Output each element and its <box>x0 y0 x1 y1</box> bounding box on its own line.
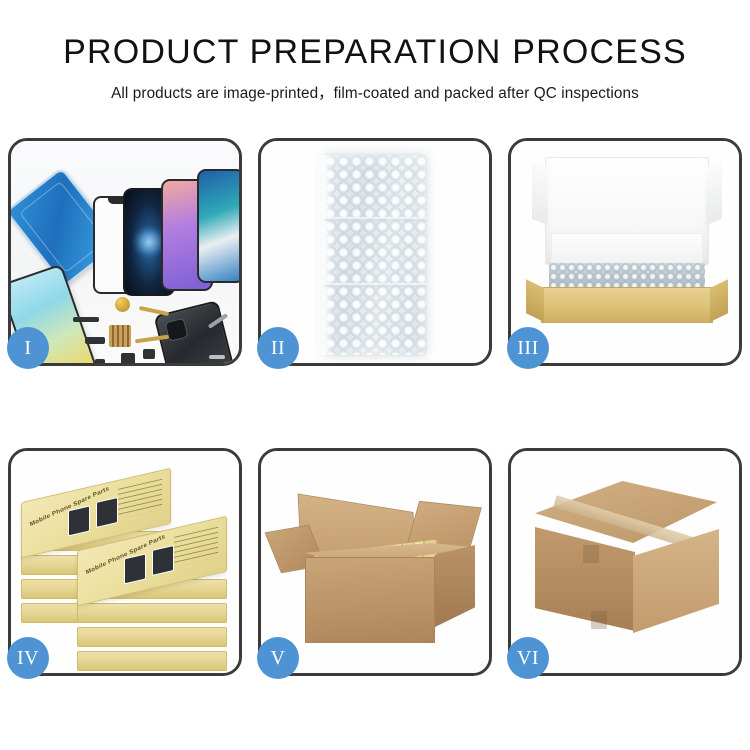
carton-handle-notch-bottom <box>591 611 607 629</box>
box-art-text-lines-a <box>118 479 162 519</box>
header: PRODUCT PREPARATION PROCESS All products… <box>0 0 750 103</box>
camera-module-part <box>85 337 105 344</box>
step-image-4: Mobile Phone Spare Parts Mobile Phone Sp… <box>11 451 239 673</box>
carton-handle-notch-top <box>583 545 599 563</box>
box-art-screen-b1 <box>124 553 146 584</box>
product-preparation-infographic: PRODUCT PREPARATION PROCESS All products… <box>0 0 750 750</box>
screwdriver-tool <box>209 355 225 359</box>
step-badge-5: V <box>257 637 299 679</box>
wrap-fold-a <box>324 217 426 221</box>
flex-cable-part-a <box>139 306 169 316</box>
step-image-6 <box>511 451 739 673</box>
retail-box-side-6 <box>77 603 227 623</box>
step-image-5 <box>261 451 489 673</box>
ic-chip-part <box>109 325 131 347</box>
phone-rear-housing <box>154 300 235 363</box>
page-title: PRODUCT PREPARATION PROCESS <box>0 34 750 70</box>
page-subtitle: All products are image-printed，film-coat… <box>0 81 750 103</box>
box-art-screen-b2 <box>152 545 174 576</box>
foam-insert <box>551 233 703 267</box>
step-panel-6: VI <box>508 448 742 676</box>
step-panel-4: Mobile Phone Spare Parts Mobile Phone Sp… <box>8 448 242 676</box>
box-art-screen-a2 <box>96 497 118 528</box>
carton-side-face <box>435 545 475 627</box>
step-badge-1: I <box>7 327 49 369</box>
vibration-motor-part <box>115 297 130 312</box>
step-panel-5: V <box>258 448 492 676</box>
sealed-carton-front <box>535 527 635 631</box>
step-badge-6: VI <box>507 637 549 679</box>
step-image-1 <box>11 141 239 363</box>
step-panel-3: III <box>508 138 742 366</box>
bubble-wrapped-contents <box>549 263 705 289</box>
carton-front-face <box>305 557 435 643</box>
sealed-carton-side <box>633 529 719 633</box>
retail-box-side-8 <box>77 651 227 671</box>
kraft-box-base <box>541 287 713 323</box>
sealed-carton-top <box>535 481 717 543</box>
battery-connector-part <box>121 353 135 363</box>
step-panel-1: I <box>8 138 242 366</box>
wrap-highlight <box>316 155 332 355</box>
step-badge-3: III <box>507 327 549 369</box>
phone-display-teal <box>197 169 239 283</box>
box-art-text-lines-b <box>174 527 218 567</box>
step-badge-2: II <box>257 327 299 369</box>
retail-box-stack: Mobile Phone Spare Parts Mobile Phone Sp… <box>17 469 239 665</box>
button-part <box>143 349 155 359</box>
step-image-3 <box>511 141 739 363</box>
box-art-screen-a1 <box>68 505 90 536</box>
step-image-2 <box>261 141 489 363</box>
wrap-fold-b <box>324 283 426 287</box>
sim-tray-part <box>95 359 105 363</box>
bubble-wrap-package <box>323 154 427 356</box>
steps-grid: I II III <box>8 138 742 676</box>
step-panel-2: II <box>258 138 492 366</box>
earpiece-speaker-part <box>73 317 99 322</box>
step-badge-4: IV <box>7 637 49 679</box>
retail-box-side-7 <box>77 627 227 647</box>
